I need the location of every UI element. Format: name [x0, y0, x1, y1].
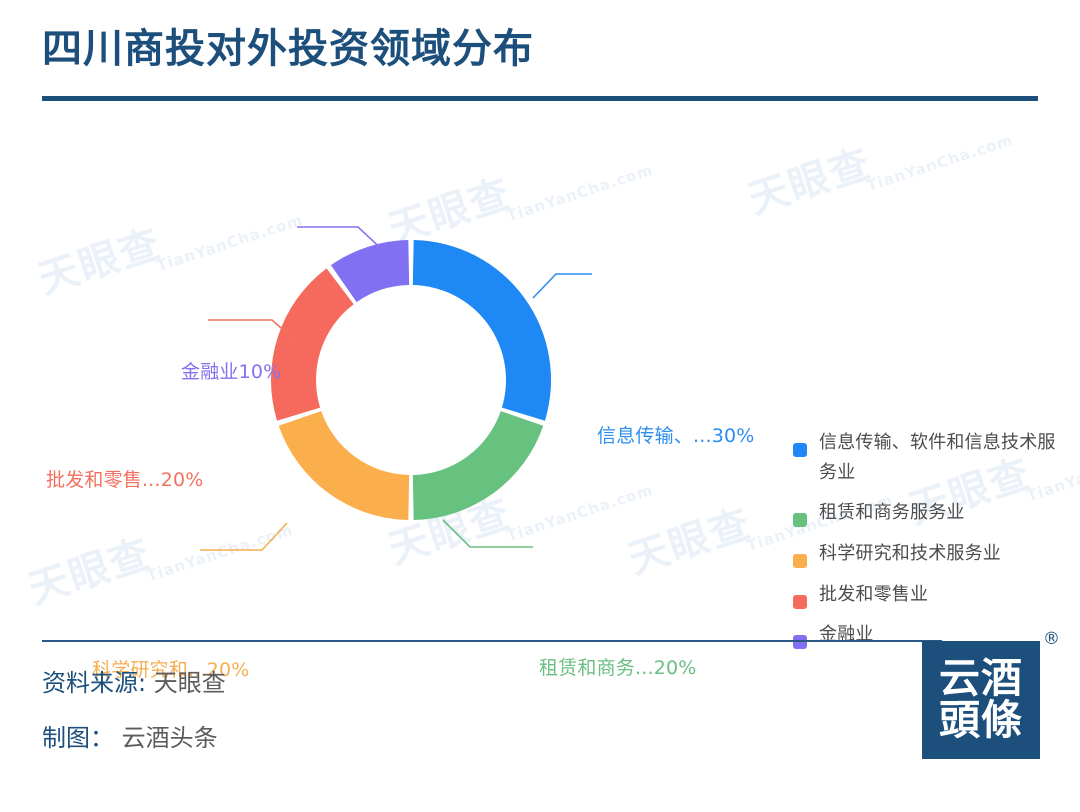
legend-color-swatch	[793, 595, 807, 609]
legend-item-label: 信息传输、软件和信息技术服务业	[819, 428, 1059, 487]
page-title: 四川商投对外投资领域分布	[42, 26, 1038, 72]
slice-label-wholesale-retail: 批发和零售...20%	[46, 465, 204, 492]
logo-text: 云酒頭條	[935, 658, 1027, 742]
registered-trademark-icon: ®	[1043, 629, 1060, 649]
slice-label-information-transmission: 信息传输、...30%	[597, 421, 755, 448]
donut-slice[interactable]	[279, 411, 409, 520]
legend: 信息传输、软件和信息技术服务业租赁和商务服务业科学研究和技术服务业批发和零售业金…	[793, 428, 1073, 661]
legend-item-label: 批发和零售业	[819, 580, 928, 610]
legend-item-label: 租赁和商务服务业	[819, 498, 965, 528]
donut-graphic	[256, 225, 566, 535]
footer: 资料来源: 天眼查 制图： 云酒头条	[42, 663, 226, 773]
donut-slice[interactable]	[271, 268, 354, 420]
footer-divider	[42, 640, 942, 642]
slice-label-leasing-business: 租赁和商务...20%	[539, 653, 697, 680]
header-divider	[42, 96, 1038, 101]
footer-source-line: 资料来源: 天眼查	[42, 663, 226, 698]
footer-credit-line: 制图： 云酒头条	[42, 718, 226, 753]
donut-svg	[256, 225, 566, 535]
infographic-page: 四川商投对外投资领域分布 信息传输、...30% 租赁和商务...20% 科学研…	[0, 0, 1080, 812]
legend-item[interactable]: 租赁和商务服务业	[793, 498, 1073, 528]
legend-item-label: 金融业	[819, 620, 874, 650]
slice-label-finance: 金融业10%	[181, 357, 281, 384]
footer-source-value: 天眼查	[154, 669, 226, 697]
legend-item-label: 科学研究和技术服务业	[819, 539, 1001, 569]
legend-item[interactable]: 批发和零售业	[793, 580, 1073, 610]
footer-credit-label: 制图：	[42, 724, 114, 752]
legend-color-swatch	[793, 554, 807, 568]
donut-slice[interactable]	[413, 411, 543, 520]
legend-item[interactable]: 信息传输、软件和信息技术服务业	[793, 428, 1073, 487]
donut-slice[interactable]	[413, 240, 551, 421]
legend-color-swatch	[793, 635, 807, 649]
legend-color-swatch	[793, 513, 807, 527]
footer-credit-value: 云酒头条	[122, 724, 218, 752]
legend-color-swatch	[793, 443, 807, 457]
brand-logo: 云酒頭條 ®	[922, 641, 1047, 766]
legend-item[interactable]: 科学研究和技术服务业	[793, 539, 1073, 569]
header: 四川商投对外投资领域分布	[42, 26, 1038, 101]
donut-chart: 信息传输、...30% 租赁和商务...20% 科学研究和...20% 批发和零…	[0, 150, 1080, 620]
footer-source-label: 资料来源:	[42, 669, 146, 697]
logo-square: 云酒頭條	[922, 641, 1040, 759]
